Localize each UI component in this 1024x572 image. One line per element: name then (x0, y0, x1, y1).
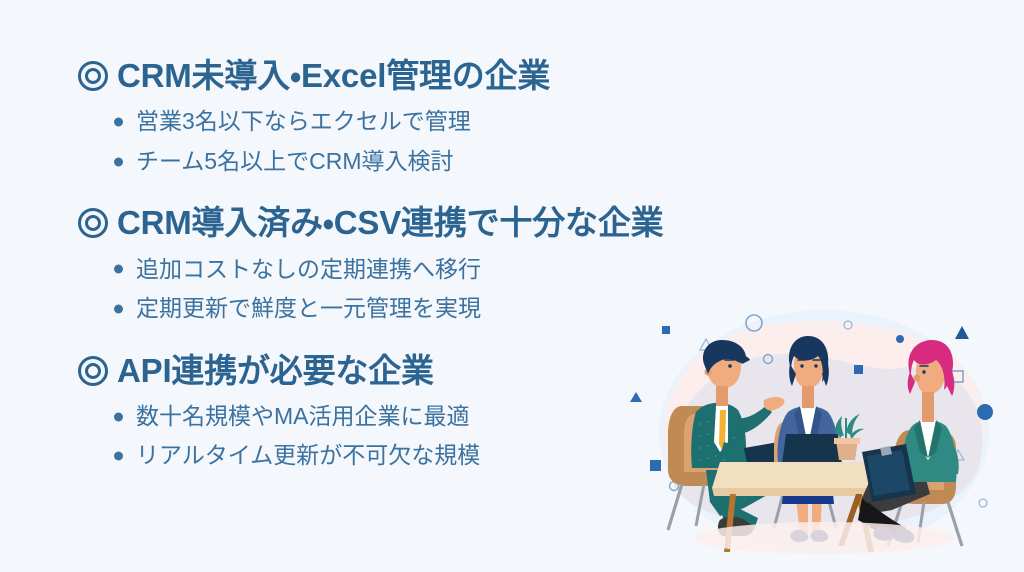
bullet-list: 営業3名以下ならエクセルで管理 チーム5名以上でCRM導入検討 (78, 102, 778, 181)
bullseye-icon (78, 356, 108, 386)
list-item: 定期更新で鮮度と一元管理を実現 (136, 289, 778, 329)
list-item-label: 定期更新で鮮度と一元管理を実現 (136, 295, 481, 321)
filled-circle-bullet-icon (114, 265, 123, 274)
section-api-required: API連携が必要な企業 数十名規模やMA活用企業に最適 リアルタイム更新が不可欠… (78, 351, 778, 476)
list-item-label: 追加コストなしの定期連携へ移行 (136, 256, 481, 282)
list-item: 数十名規模やMA活用企業に最適 (136, 397, 778, 437)
filled-circle-bullet-icon (114, 412, 123, 421)
list-item-label: リアルタイム更新が不可欠な規模 (136, 442, 480, 468)
list-item-label: 数十名規模やMA活用企業に最適 (136, 403, 470, 429)
bullet-list: 追加コストなしの定期連携へ移行 定期更新で鮮度と一元管理を実現 (78, 250, 778, 329)
list-item: 営業3名以下ならエクセルで管理 (136, 102, 778, 142)
list-item: 追加コストなしの定期連携へ移行 (136, 250, 778, 290)
list-item: リアルタイム更新が不可欠な規模 (136, 436, 778, 476)
section-heading-label: CRM導入済み・CSV連携で十分な企業 (117, 203, 663, 243)
list-item-label: 営業3名以下ならエクセルで管理 (136, 108, 471, 134)
section-heading-label: CRM未導入・Excel管理の企業 (117, 56, 550, 96)
section-crm-not-introduced: CRM未導入・Excel管理の企業 営業3名以下ならエクセルで管理 チーム5名以… (78, 56, 778, 181)
section-crm-introduced-csv: CRM導入済み・CSV連携で十分な企業 追加コストなしの定期連携へ移行 定期更新… (78, 203, 778, 328)
section-heading: CRM導入済み・CSV連携で十分な企業 (78, 203, 778, 243)
bullet-list: 数十名規模やMA活用企業に最適 リアルタイム更新が不可欠な規模 (78, 397, 778, 476)
section-heading: API連携が必要な企業 (78, 351, 778, 391)
bullseye-icon (78, 208, 108, 238)
filled-circle-bullet-icon (114, 157, 123, 166)
bullseye-icon (78, 61, 108, 91)
section-heading: CRM未導入・Excel管理の企業 (78, 56, 778, 96)
slide-root: CRM未導入・Excel管理の企業 営業3名以下ならエクセルで管理 チーム5名以… (0, 0, 1024, 572)
list-item: チーム5名以上でCRM導入検討 (136, 142, 778, 182)
content-column: CRM未導入・Excel管理の企業 営業3名以下ならエクセルで管理 チーム5名以… (78, 56, 778, 476)
section-heading-label: API連携が必要な企業 (117, 351, 434, 391)
list-item-label: チーム5名以上でCRM導入検討 (136, 148, 453, 174)
filled-circle-bullet-icon (114, 118, 123, 127)
filled-circle-bullet-icon (114, 452, 123, 461)
filled-circle-bullet-icon (114, 304, 123, 313)
